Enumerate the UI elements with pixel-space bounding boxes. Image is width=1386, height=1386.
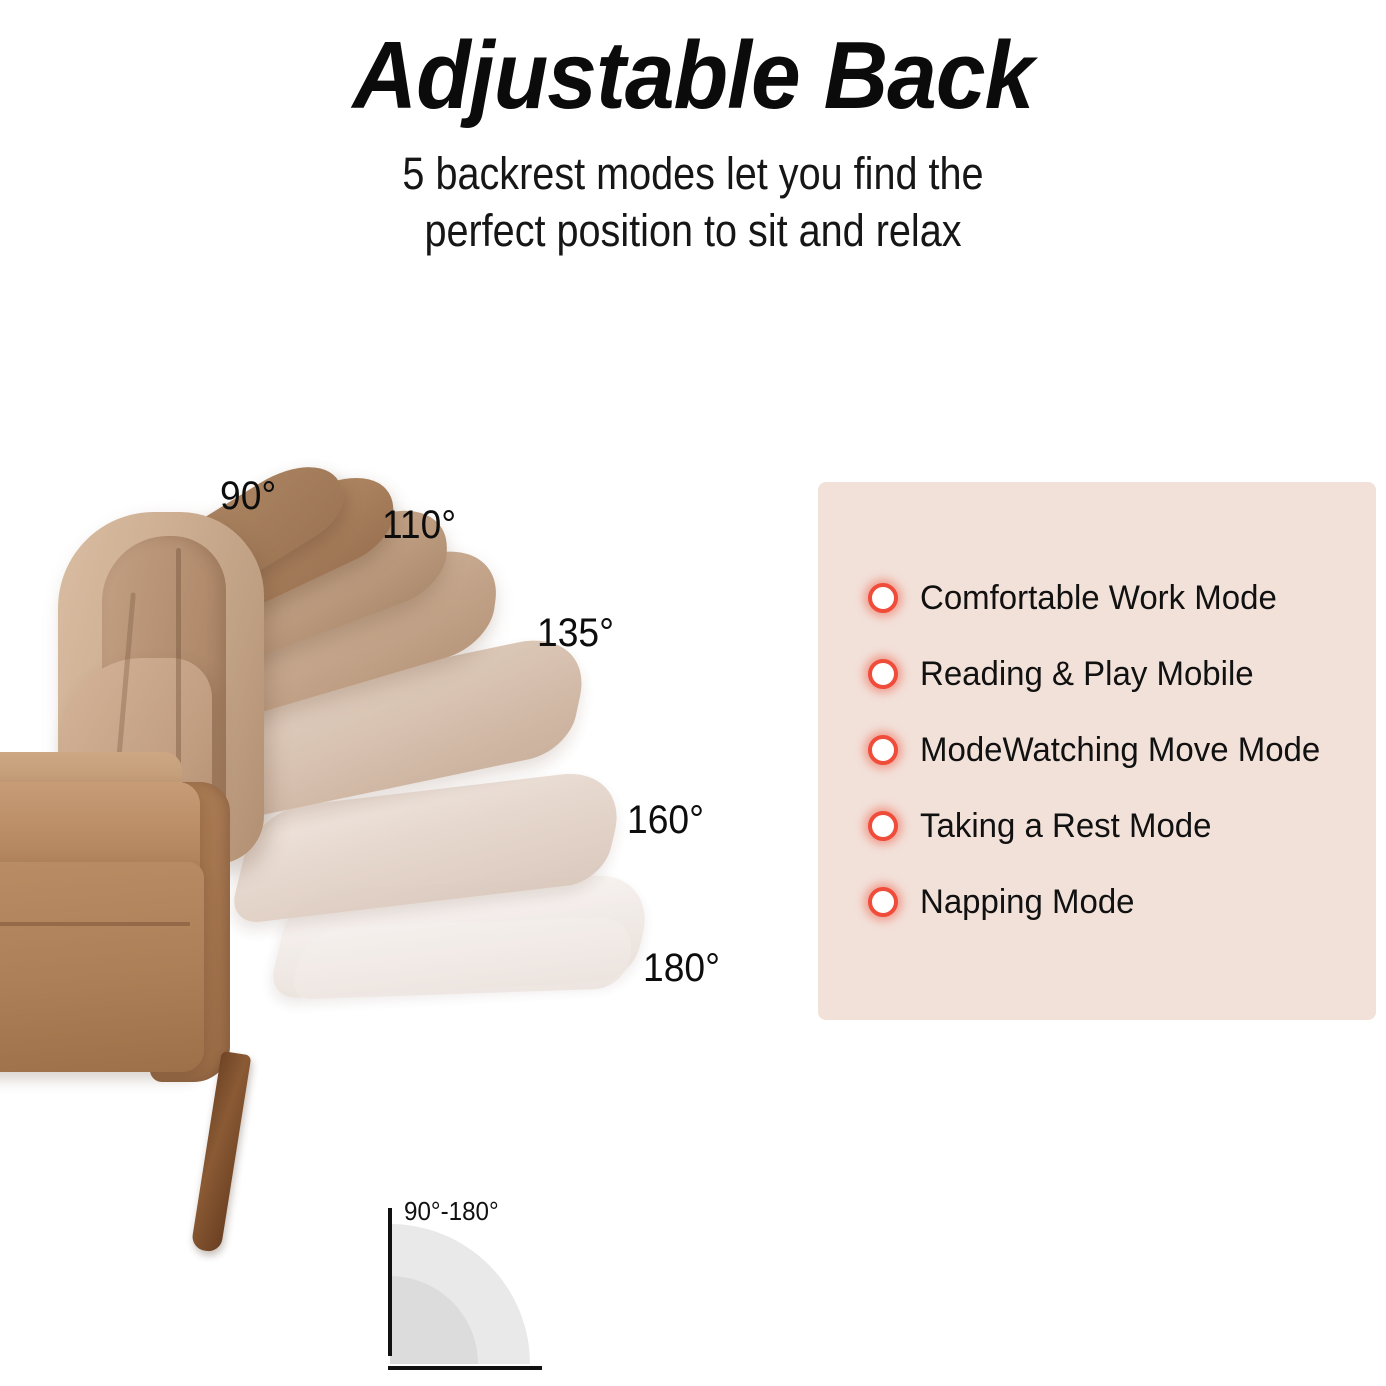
subtitle-line-2: perfect position to sit and relax <box>83 202 1303 260</box>
list-item: ModeWatching Move Mode <box>868 712 1368 788</box>
angle-label-135: 135° <box>537 611 614 656</box>
angle-axis-vertical <box>388 1208 392 1356</box>
angle-label-90: 90° <box>220 474 276 519</box>
bullet-circle-icon <box>868 887 898 917</box>
bullet-circle-icon <box>868 583 898 613</box>
header: Adjustable Back 5 backrest modes let you… <box>0 0 1386 260</box>
chair-recline-illustration <box>0 452 760 1292</box>
list-item: Napping Mode <box>868 864 1368 940</box>
bullet-circle-icon <box>868 735 898 765</box>
list-item: Comfortable Work Mode <box>868 560 1368 636</box>
bullet-circle-icon <box>868 659 898 689</box>
feature-label: Napping Mode <box>920 885 1135 919</box>
chair-seat-seam <box>0 922 190 926</box>
bullet-circle-icon <box>868 811 898 841</box>
feature-label: Reading & Play Mobile <box>920 657 1254 691</box>
angle-label-160: 160° <box>627 798 704 843</box>
feature-label: Comfortable Work Mode <box>920 581 1277 615</box>
subtitle-line-1: 5 backrest modes let you find the <box>83 145 1303 203</box>
angle-axis-horizontal <box>388 1366 542 1370</box>
feature-list: Comfortable Work Mode Reading & Play Mob… <box>868 560 1368 940</box>
page-title: Adjustable Back <box>49 0 1338 127</box>
angle-range-label: 90°-180° <box>404 1196 499 1227</box>
angle-label-110: 110° <box>382 503 456 548</box>
feature-panel: Comfortable Work Mode Reading & Play Mob… <box>818 482 1376 1020</box>
chair-seat-body <box>0 862 204 1072</box>
feature-label: ModeWatching Move Mode <box>920 733 1320 767</box>
page-subtitle: 5 backrest modes let you find the perfec… <box>83 127 1303 260</box>
list-item: Reading & Play Mobile <box>868 636 1368 712</box>
angle-label-180: 180° <box>643 946 720 991</box>
list-item: Taking a Rest Mode <box>868 788 1368 864</box>
angle-range-diagram: 90°-180° <box>382 1200 552 1370</box>
feature-label: Taking a Rest Mode <box>920 809 1211 843</box>
backrest-position-180-base-ghost <box>288 916 642 999</box>
